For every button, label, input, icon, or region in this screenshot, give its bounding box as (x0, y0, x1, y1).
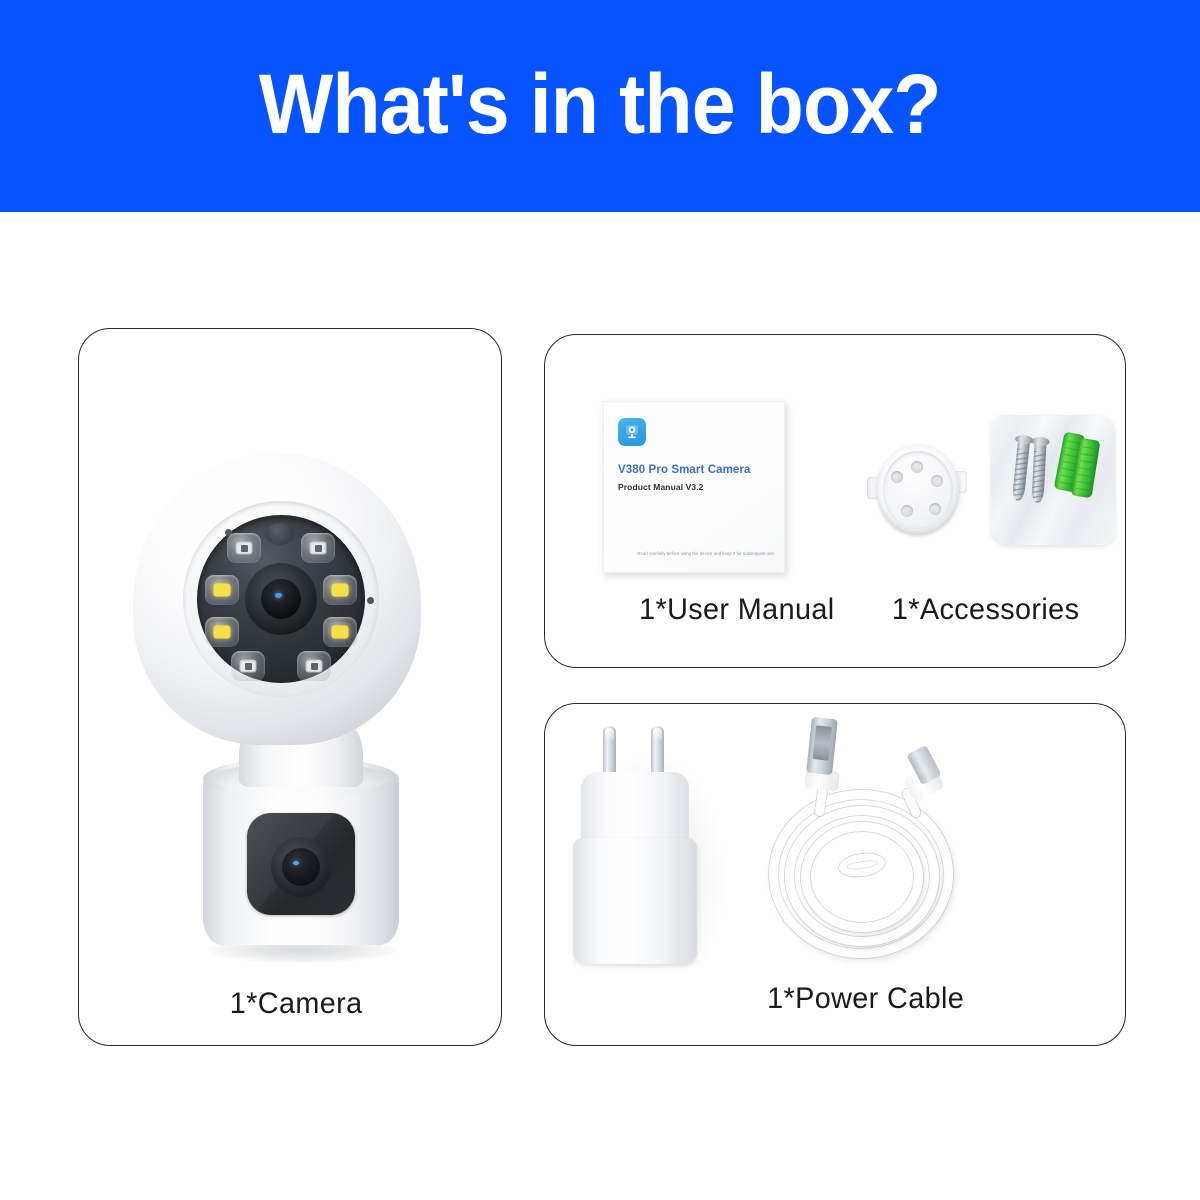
caption-power-cable: 1*Power Cable (767, 982, 964, 1016)
adapter-top (581, 772, 689, 846)
ir-led-icon (301, 533, 335, 563)
manual-title: V380 Pro Smart Camera (618, 464, 751, 476)
accessory-bag-illustration (985, 409, 1125, 559)
screw-hole-icon (901, 505, 913, 517)
microphone-hole-icon (367, 597, 374, 604)
screw-hole-icon (931, 475, 943, 487)
camera-illustration (79, 425, 503, 1025)
screw-hole-icon (929, 503, 941, 515)
caption-camera: 1*Camera (230, 987, 363, 1021)
caption-accessories: 1*Accessories (892, 593, 1079, 627)
manual-fineprint: Read carefully before using the device a… (604, 551, 774, 556)
user-manual-booklet: V380 Pro Smart Camera Product Manual V3.… (603, 401, 785, 573)
secondary-lens (282, 848, 320, 886)
manual-subtitle: Product Manual V3.2 (618, 482, 704, 492)
warm-led-icon (205, 617, 239, 647)
page-title: What's in the box? (259, 62, 941, 146)
secondary-lens-glint (293, 861, 299, 865)
cable-coil (801, 822, 923, 932)
warm-led-icon (205, 575, 239, 605)
camera-app-icon (618, 418, 646, 446)
wall-mount-plate-illustration (865, 431, 985, 551)
screw-hole-icon (891, 471, 903, 483)
ir-led-icon (231, 651, 265, 681)
caption-user-manual: 1*User Manual (639, 593, 834, 627)
usb-cable-illustration (735, 704, 1035, 984)
screw-hole-icon (911, 461, 923, 473)
warm-led-icon (323, 575, 357, 605)
header-banner: What's in the box? (0, 0, 1200, 212)
main-lens-glint (275, 593, 282, 598)
ir-led-icon (227, 533, 261, 563)
main-lens (261, 579, 301, 619)
card-manual-accessories: V380 Pro Smart Camera Product Manual V3.… (544, 334, 1126, 668)
warm-led-icon (323, 617, 357, 647)
card-camera: 1*Camera (78, 328, 502, 1046)
card-power-cable: 1*Power Cable (544, 703, 1126, 1046)
adapter-body (573, 838, 697, 964)
light-sensor-icon (265, 523, 295, 545)
ir-led-icon (297, 651, 331, 681)
plastic-bag (991, 415, 1115, 545)
usb-a-connector-icon (806, 717, 838, 775)
